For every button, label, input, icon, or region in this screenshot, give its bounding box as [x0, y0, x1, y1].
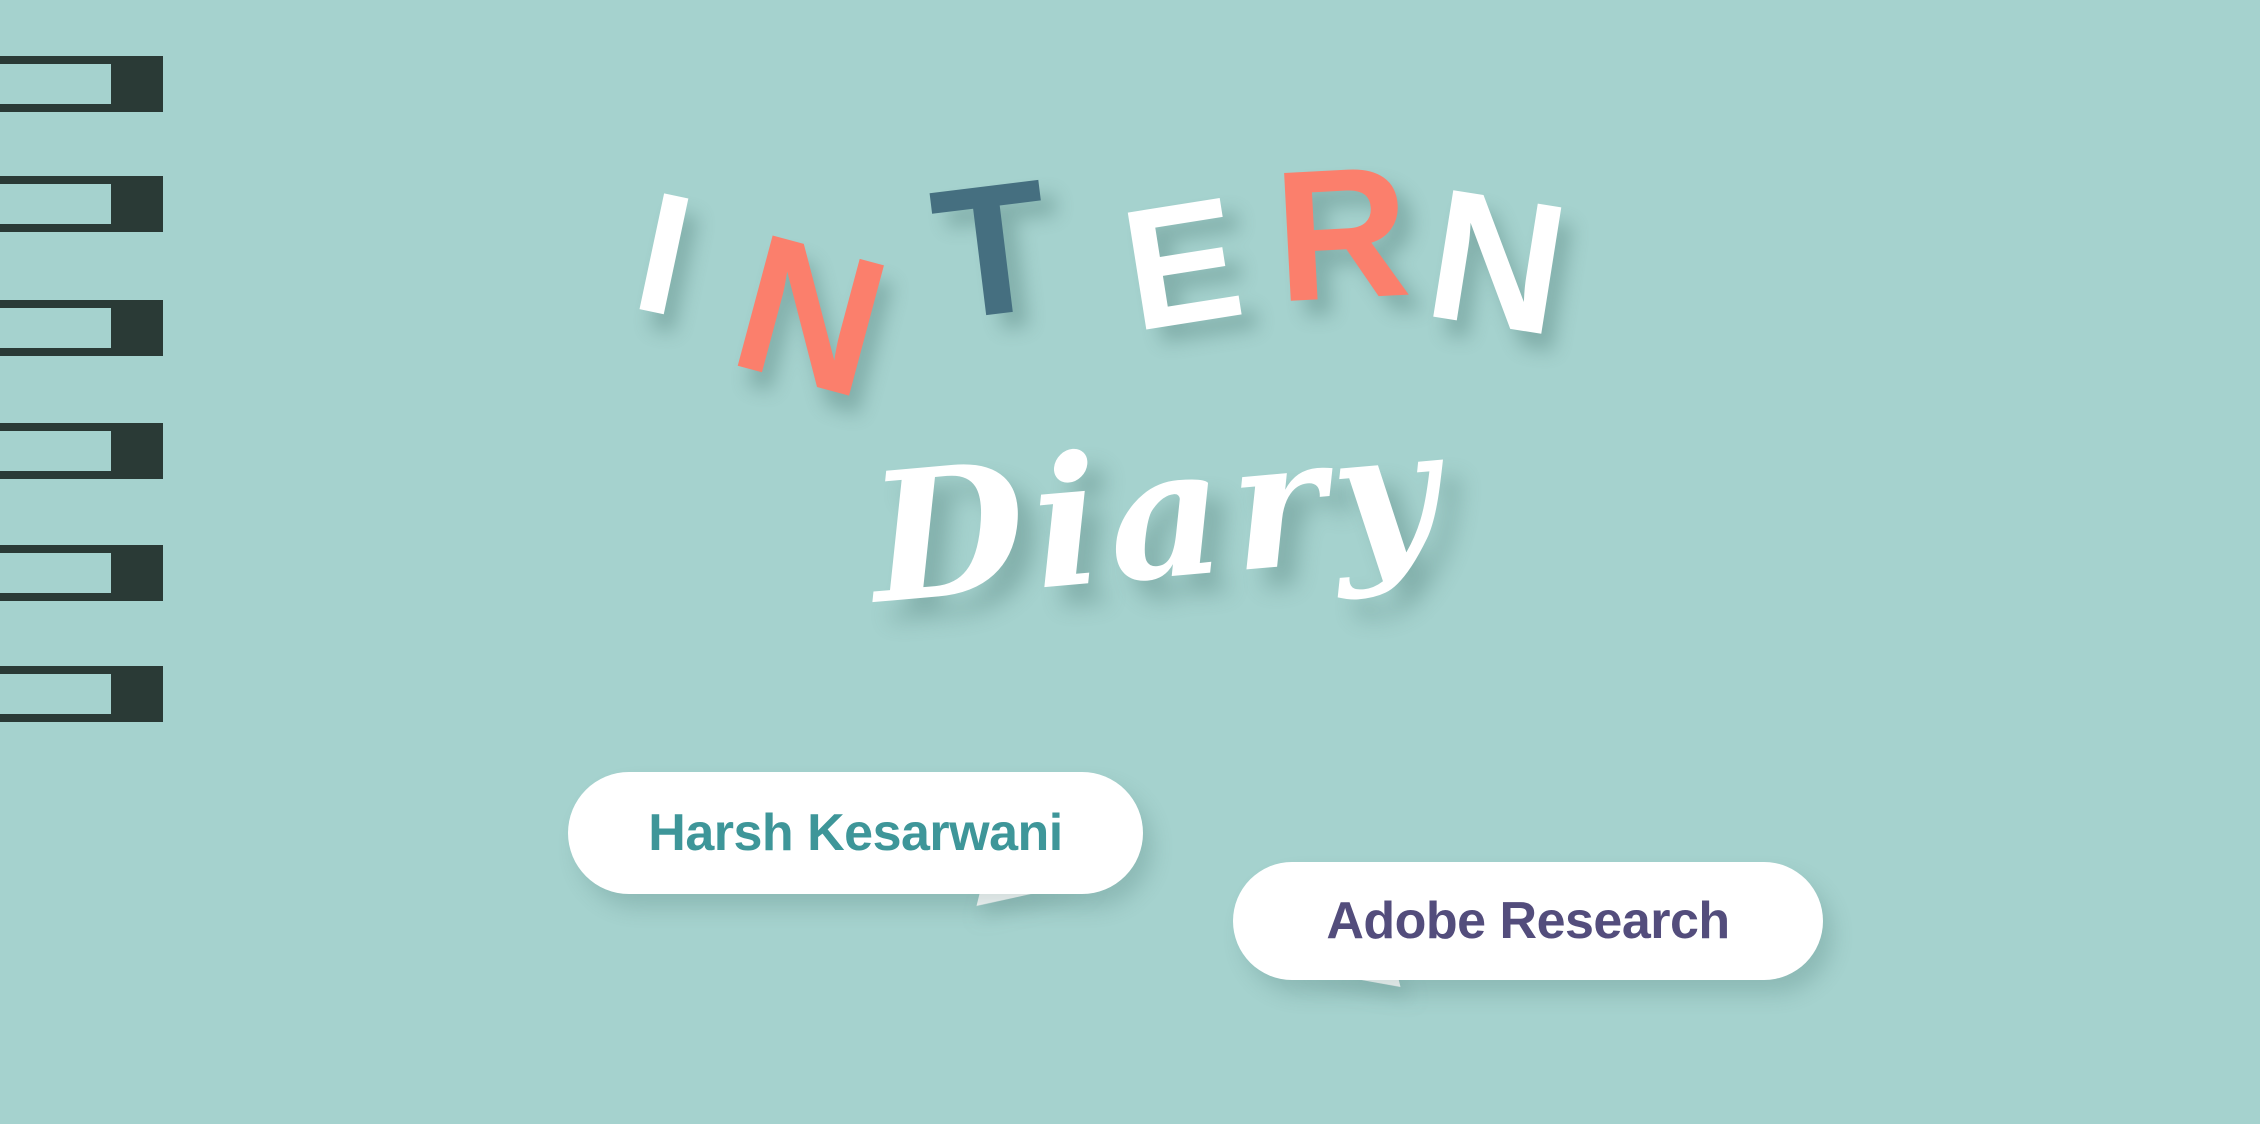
speech-bubble-org[interactable]: Adobe Research [1233, 862, 1823, 980]
speech-bubble-org-label: Adobe Research [1326, 891, 1729, 951]
intern-diary-cover: I N T E R N Diary Harsh Kesarwani Adobe … [0, 0, 2260, 1124]
page-title: I N T E R N [0, 0, 2260, 480]
binder-ring-hole [0, 553, 111, 593]
binder-ring-hole [0, 674, 111, 714]
title-letter-3: T [924, 152, 1059, 350]
speech-bubble-tail-name [957, 880, 1095, 984]
speech-bubble-tail-org [1277, 965, 1421, 1069]
binder-ring [0, 666, 163, 722]
speech-bubble-name-label: Harsh Kesarwani [648, 803, 1062, 863]
title-letter-5: R [1270, 139, 1414, 332]
speech-bubble-name[interactable]: Harsh Kesarwani [568, 772, 1143, 894]
title-letter-1: I [623, 165, 706, 343]
title-letter-6: N [1416, 161, 1578, 366]
binder-ring [0, 545, 163, 601]
title-letter-4: E [1112, 170, 1252, 358]
title-letter-2: N [717, 203, 904, 429]
